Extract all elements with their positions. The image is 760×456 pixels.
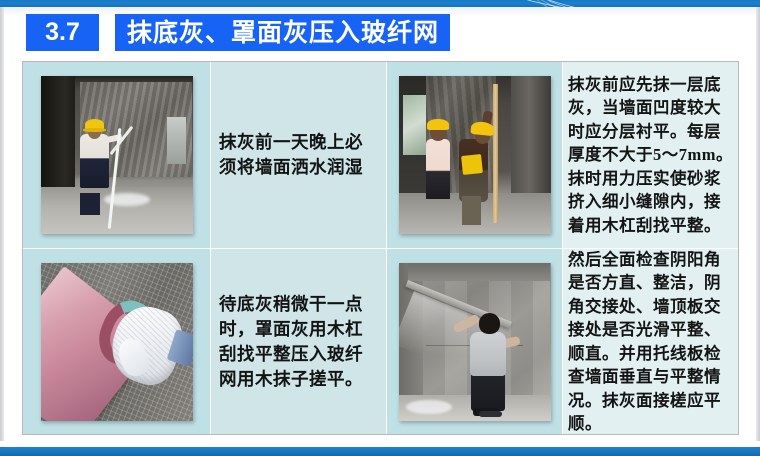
cell-caption-bottom-right: 然后全面检查阴阳角是否方直、整洁，阴角交接处、墙顶板交接处是否光滑平整、顺直。并…: [563, 249, 738, 434]
cell-caption-top-right: 抹灰前应先抹一层底灰，当墙面凹度较大时应分层衬平。每层厚度不大于5～7mm。抹时…: [563, 62, 738, 248]
cell-photo-top-right: [387, 62, 562, 248]
right-rail: [756, 7, 760, 441]
band-swoosh-5: [525, 0, 620, 7]
worker-checking-flatness-photo: [399, 263, 551, 421]
cell-photo-bottom-left: [23, 249, 210, 434]
caption-text: 抹灰前应先抹一层底灰，当墙面凹度较大时应分层衬平。每层厚度不大于5～7mm。抹时…: [563, 73, 738, 238]
bottom-accent-bar: [0, 447, 760, 456]
cell-caption-top-left: 抹灰前一天晚上必须将墙面洒水润湿: [211, 62, 386, 248]
page-title: 抹底灰、罩面灰压入玻纤网: [115, 14, 450, 51]
trowel-on-mesh-photo: [41, 263, 193, 421]
workers-screeding-wall-photo: [399, 76, 551, 234]
cell-photo-bottom-right: [387, 249, 562, 434]
cell-caption-bottom-left: 待底灰稍微干一点时，罩面灰用木杠刮找平整压入玻纤网用木抹子搓平。: [211, 249, 386, 434]
content-grid: 抹灰前一天晚上必须将墙面洒水润湿: [22, 61, 739, 435]
top-decorative-band: [0, 0, 760, 7]
left-rail: [0, 7, 4, 441]
section-number-badge: 3.7: [26, 14, 99, 51]
worker-wetting-wall-photo: [41, 76, 193, 234]
caption-text: 然后全面检查阴阳角是否方直、整洁，阴角交接处、墙顶板交接处是否光滑平整、顺直。并…: [563, 249, 738, 434]
cell-photo-top-left: [23, 62, 210, 248]
slide-root: 3.7 抹底灰、罩面灰压入玻纤网: [0, 0, 760, 456]
caption-text: 待底灰稍微干一点时，罩面灰用木杠刮找平整压入玻纤网用木抹子搓平。: [211, 292, 386, 392]
slide-header: 3.7 抹底灰、罩面灰压入玻纤网: [0, 14, 760, 52]
caption-text: 抹灰前一天晚上必须将墙面洒水润湿: [211, 130, 386, 180]
